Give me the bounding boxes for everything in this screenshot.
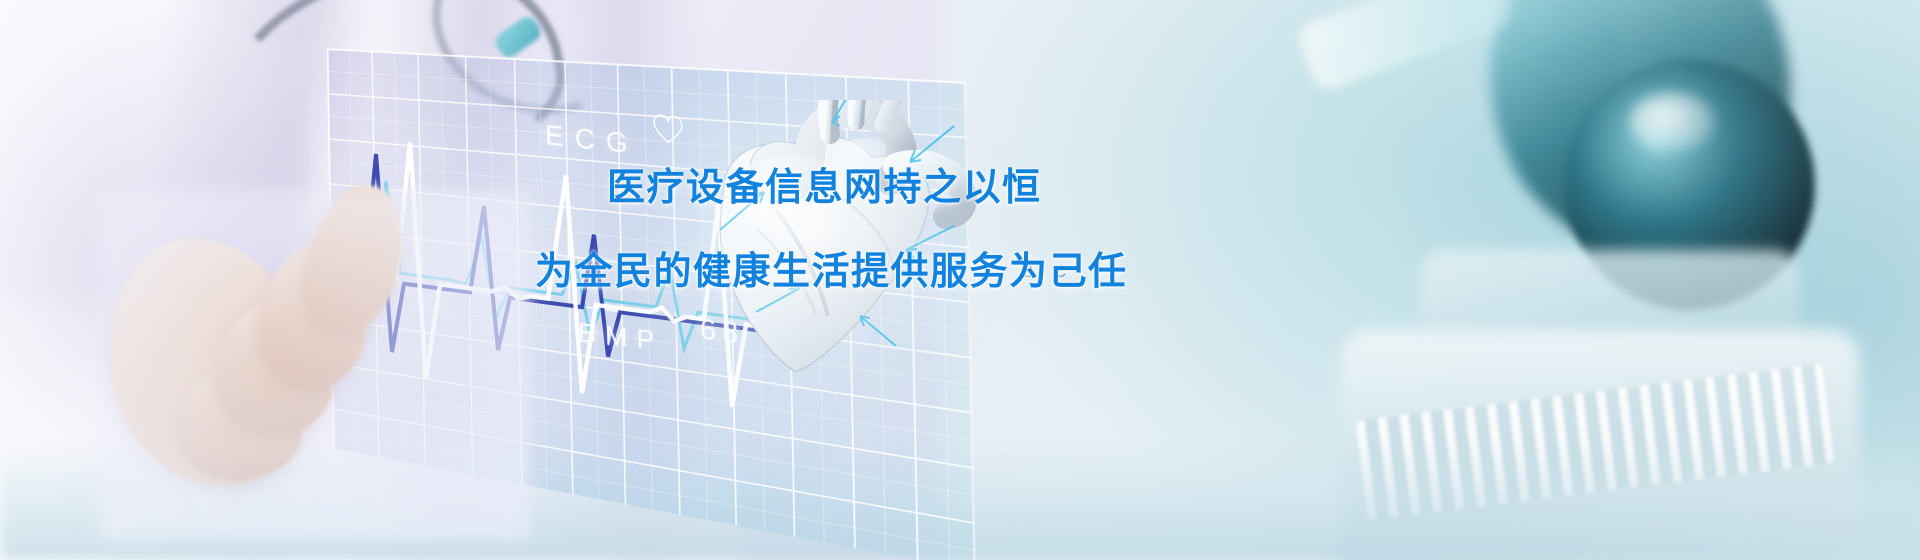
medical-hero-banner: ECG BMP 68 S C (0, 0, 1920, 560)
headline-block: 医疗设备信息网持之以恒 为全民的健康生活提供服务为己任 (607, 168, 1367, 293)
headline-line-1: 医疗设备信息网持之以恒 (607, 168, 1367, 208)
microscope-lens-glare (1629, 92, 1715, 152)
headline-line-2: 为全民的健康生活提供服务为己任 (535, 252, 1367, 292)
hand-hologram-overlay (100, 190, 530, 540)
